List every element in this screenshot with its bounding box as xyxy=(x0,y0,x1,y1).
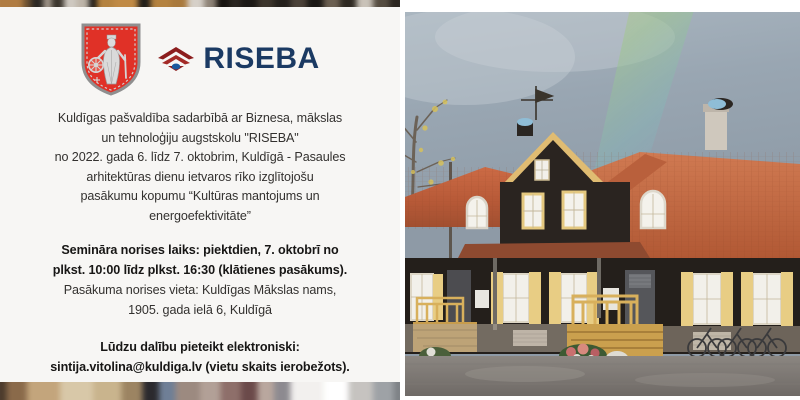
event-details: Semināra norises laiks: piektdien, 7. ok… xyxy=(18,241,382,321)
riseba-logo: RISEBA xyxy=(156,44,319,74)
seminar-time-line-2: plkst. 10:00 līdz plkst. 16:30 (klātiene… xyxy=(18,261,382,281)
intro-line-4: arhitektūras dienu ietvaros rīko izglīto… xyxy=(18,168,382,188)
intro-paragraph: Kuldīgas pašvaldība sadarbībā ar Biznesa… xyxy=(18,109,382,226)
venue-line-2: 1905. gada ielā 6, Kuldīgā xyxy=(18,301,382,321)
kuldiga-art-house-photo xyxy=(405,12,800,396)
riseba-wordmark: RISEBA xyxy=(203,44,319,74)
signup-line-1: Lūdzu dalību pieteikt elektroniski: xyxy=(18,338,382,358)
intro-line-1: Kuldīgas pašvaldība sadarbībā ar Biznesa… xyxy=(18,109,382,129)
intro-line-6: energoefektivitāte” xyxy=(18,207,382,227)
seminar-time-line-1: Semināra norises laiks: piektdien, 7. ok… xyxy=(18,241,382,261)
photo-artwork xyxy=(405,12,800,396)
intro-line-2: un tehnoloģiju augstskolu "RISEBA" xyxy=(18,129,382,149)
signup-block: Lūdzu dalību pieteikt elektroniski: sint… xyxy=(18,338,382,378)
background-strip-bottom xyxy=(0,382,400,400)
background-strip-bottom-art xyxy=(0,382,400,400)
riseba-logo-icon xyxy=(156,45,196,73)
poster-root: RISEBA Kuldīgas pašvaldība sadarbībā ar … xyxy=(0,0,800,400)
signup-email-line[interactable]: sintija.vitolina@kuldiga.lv (vietu skait… xyxy=(18,358,382,378)
intro-line-3: no 2022. gada 6. līdz 7. oktobrim, Kuldī… xyxy=(18,148,382,168)
text-card: RISEBA Kuldīgas pašvaldība sadarbībā ar … xyxy=(0,7,400,382)
venue-line-1: Pasākuma norises vieta: Kuldīgas Mākslas… xyxy=(18,281,382,301)
logo-row: RISEBA xyxy=(18,7,382,99)
kuldiga-coat-of-arms-icon xyxy=(80,22,142,96)
intro-line-5: pasākumu kopumu “Kultūras mantojums un xyxy=(18,187,382,207)
